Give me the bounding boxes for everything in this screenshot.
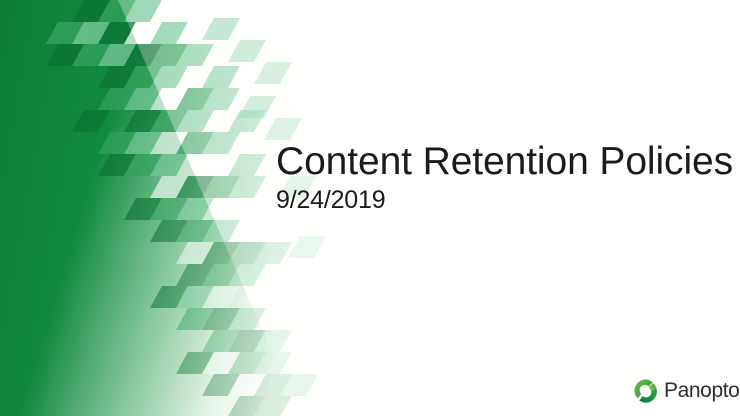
panopto-wordmark: Panopto™ bbox=[664, 380, 740, 401]
slide-title: Content Retention Policies bbox=[276, 141, 716, 183]
slide-canvas: Content Retention Policies 9/24/2019 bbox=[0, 0, 740, 416]
panopto-play-swirl-icon bbox=[633, 378, 658, 403]
title-block: Content Retention Policies 9/24/2019 bbox=[276, 141, 716, 215]
slide-subtitle-date: 9/24/2019 bbox=[276, 187, 716, 215]
panopto-logo: Panopto™ bbox=[633, 378, 740, 403]
panopto-wordmark-text: Panopto bbox=[664, 379, 739, 402]
